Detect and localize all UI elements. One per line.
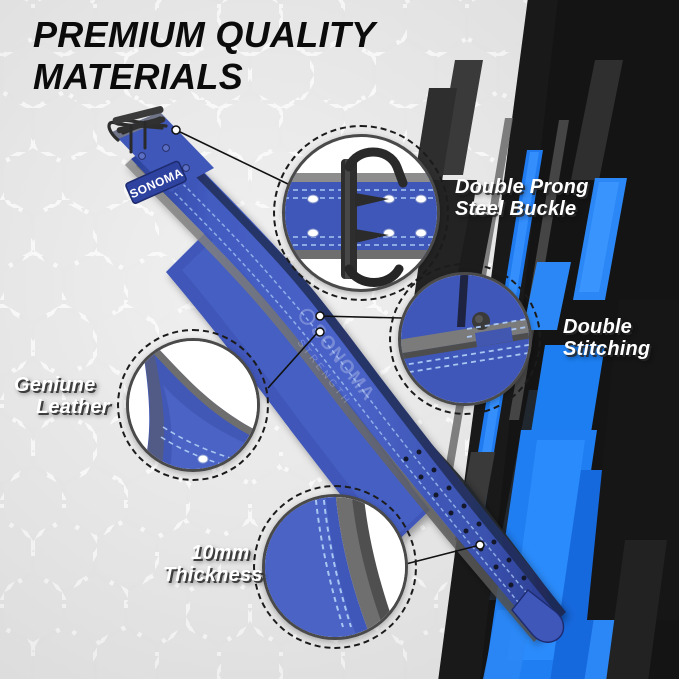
callout-disc	[398, 272, 532, 406]
feature-label-10mm-thickness: 10mm Thickness	[163, 542, 343, 587]
page-title: PREMIUM QUALITY MATERIALS	[33, 14, 453, 99]
title-line-2: MATERIALS	[33, 56, 453, 98]
callout-double-stitching	[398, 272, 532, 406]
callout-double-prong-steel-buckle	[282, 134, 440, 292]
feature-label-line-1: Geniune	[14, 374, 184, 396]
feature-label-line-1: Double	[563, 316, 679, 338]
feature-label-line-2: Leather	[36, 396, 184, 418]
feature-label-geniune-leather: Geniune Leather	[14, 374, 184, 419]
feature-label-line-2: Stitching	[563, 338, 679, 360]
feature-label-line-1: Double Prong	[455, 176, 675, 198]
feature-label-line-2: Steel Buckle	[455, 198, 675, 220]
feature-label-line-2: Thickness	[163, 564, 343, 586]
feature-label-double-stitching: Double Stitching	[563, 316, 679, 361]
infographic-canvas: SONOMA SONOMA STRENGTH	[0, 0, 679, 679]
callout-disc	[282, 134, 440, 292]
feature-label-line-1: 10mm	[191, 542, 343, 564]
title-line-1: PREMIUM QUALITY	[33, 14, 376, 55]
feature-label-double-prong-steel-buckle: Double Prong Steel Buckle	[455, 176, 675, 221]
